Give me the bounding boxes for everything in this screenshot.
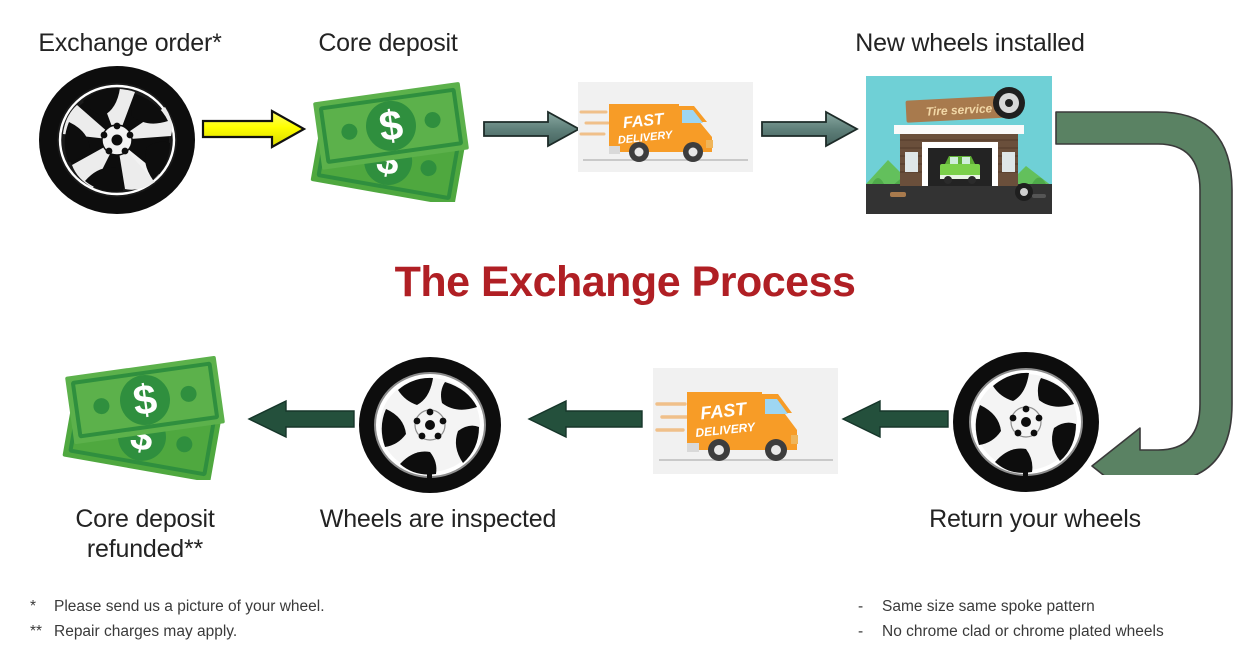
alloy-wheel-icon <box>37 64 197 216</box>
footnote-item: * Please send us a picture of your wheel… <box>30 594 460 619</box>
arrow-left-darkgreen-2 <box>526 398 644 440</box>
step-label-core-deposit-refunded: Core deposit refunded** <box>20 504 270 564</box>
step-label-exchange-order: Exchange order* <box>0 28 260 58</box>
page-title: The Exchange Process <box>275 258 975 307</box>
footnote-text: Same size same spoke pattern <box>882 594 1095 619</box>
tire-service-shop-icon: Tire service <box>866 76 1052 214</box>
cash-money-icon: $ $ <box>303 76 478 202</box>
exchange-process-diagram: Exchange order* <box>0 0 1250 666</box>
alloy-wheel-icon-return <box>951 350 1101 494</box>
footnotes-right: - Same size same spoke pattern - No chro… <box>858 594 1250 644</box>
footnote-text: Please send us a picture of your wheel. <box>54 594 325 619</box>
arrow-left-darkgreen-1 <box>246 398 356 440</box>
step-label-new-wheels-installed: New wheels installed <box>790 28 1150 58</box>
footnote-mark: * <box>30 594 54 619</box>
step-label-wheels-inspected: Wheels are inspected <box>300 504 576 534</box>
footnote-mark: - <box>858 619 882 644</box>
footnote-text: Repair charges may apply. <box>54 619 237 644</box>
step-label-return-your-wheels: Return your wheels <box>890 504 1180 534</box>
footnote-item: - No chrome clad or chrome plated wheels <box>858 619 1250 644</box>
alloy-wheel-icon-inspected <box>357 355 503 495</box>
footnote-item: - Same size same spoke pattern <box>858 594 1250 619</box>
footnotes-left: * Please send us a picture of your wheel… <box>30 594 460 644</box>
footnote-mark: - <box>858 594 882 619</box>
step-label-core-deposit: Core deposit <box>278 28 498 58</box>
fast-delivery-truck-icon-top: FAST DELIVERY <box>578 82 753 172</box>
fast-delivery-truck-icon-bottom: FAST DELIVERY <box>653 368 838 474</box>
arrow-right-slate-1 <box>482 108 582 150</box>
cash-money-icon-refund: $ $ <box>53 348 238 480</box>
footnote-item: ** Repair charges may apply. <box>30 619 460 644</box>
footnote-text: No chrome clad or chrome plated wheels <box>882 619 1164 644</box>
arrow-left-darkgreen-3 <box>840 398 950 440</box>
footnote-mark: ** <box>30 619 54 644</box>
arrow-right-yellow <box>200 108 308 150</box>
arrow-right-slate-2 <box>760 108 860 150</box>
